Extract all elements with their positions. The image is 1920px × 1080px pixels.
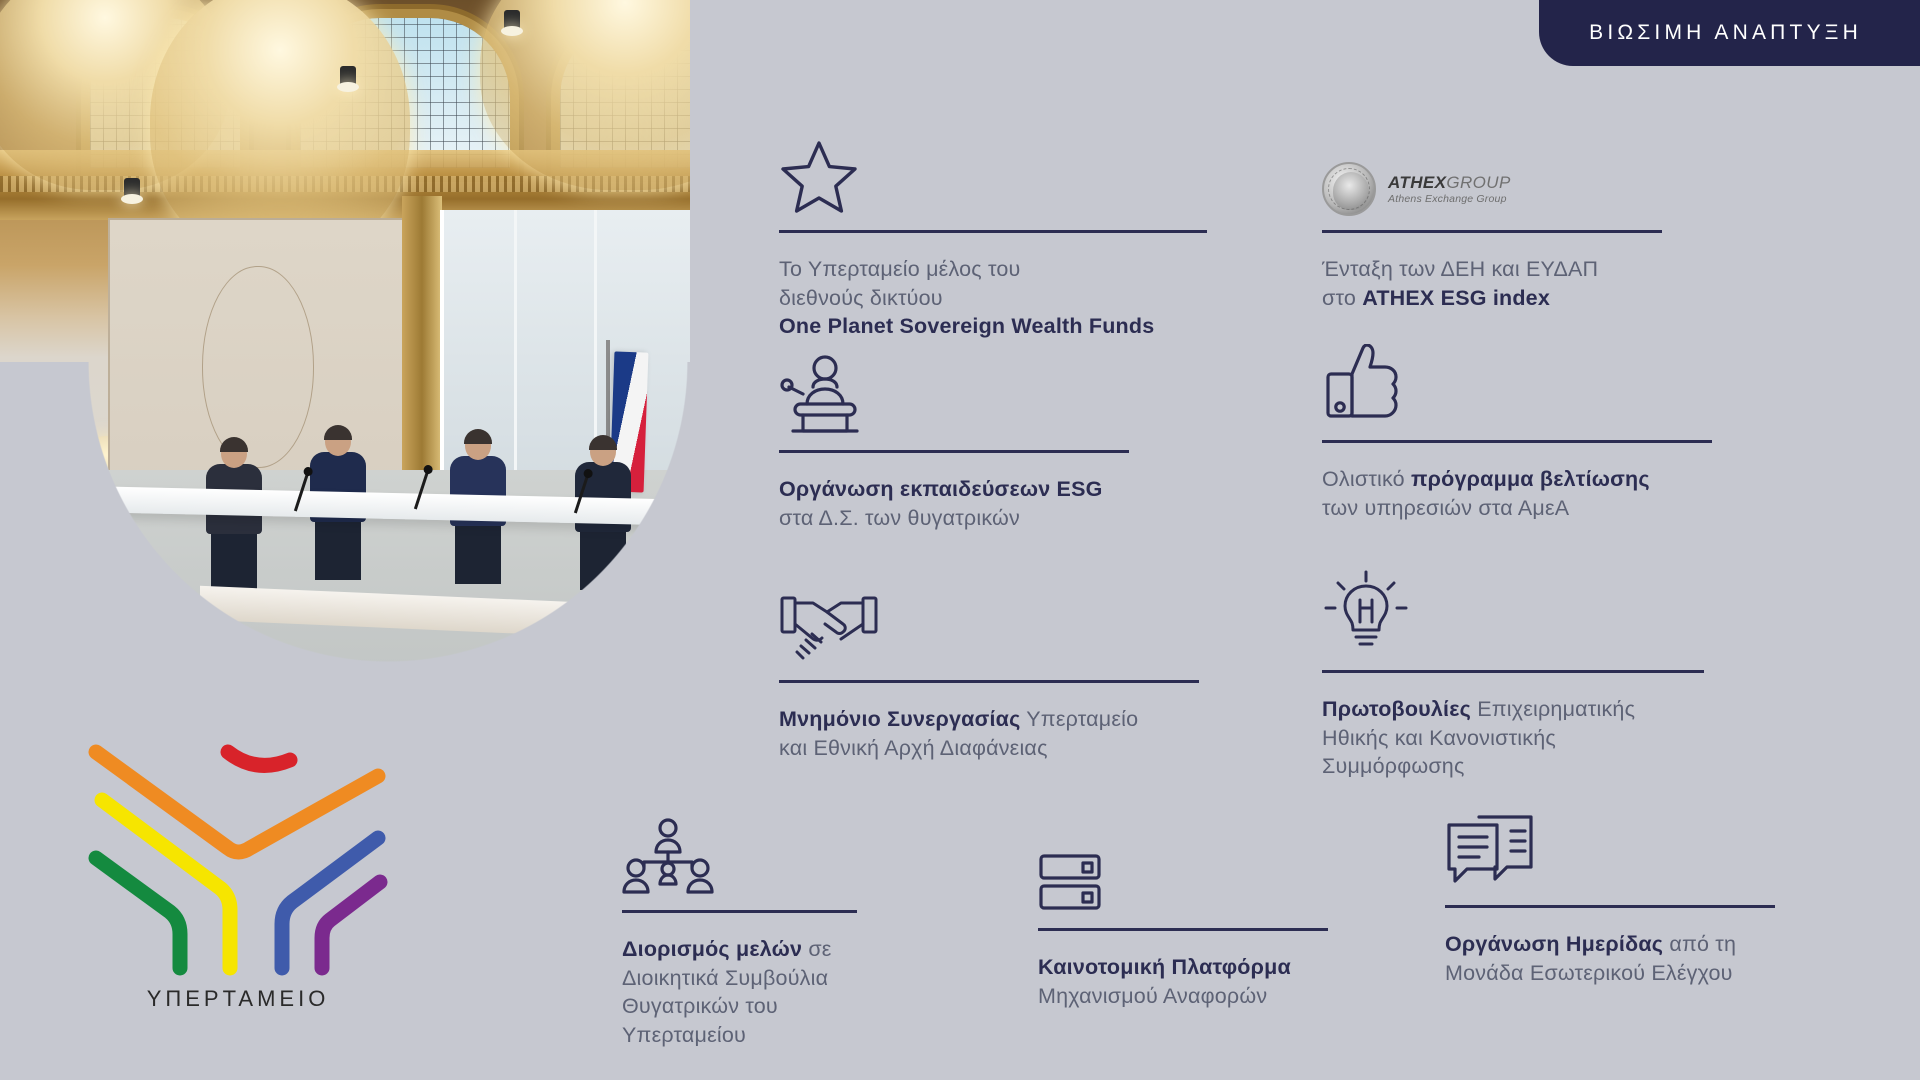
card-line-2: διεθνούς δικτύου	[779, 286, 943, 310]
card-line-1-post: από τη	[1663, 932, 1736, 956]
card-text: Καινοτομική Πλατφόρμα Μηχανισμού Αναφορώ…	[1038, 953, 1328, 1010]
card-line-1-pre: Ολιστικό	[1322, 467, 1411, 491]
athex-coin-icon	[1322, 162, 1376, 216]
card-esg-trainings: Οργάνωση εκπαιδεύσεων ESG στα Δ.Σ. των θ…	[779, 340, 1129, 532]
card-line-2-pre: στο	[1322, 286, 1362, 310]
speaker-podium-icon	[779, 340, 1129, 436]
handshake-icon	[779, 570, 1199, 666]
athex-brand-bold: ATHEX	[1388, 173, 1446, 192]
card-line-1-post: σε	[802, 937, 831, 961]
card-line-1-bold: Πρωτοβουλίες	[1322, 697, 1471, 721]
card-line-2: στα Δ.Σ. των θυγατρικών	[779, 506, 1020, 530]
card-text: Πρωτοβουλίες Επιχειρηματικής Ηθικής και …	[1322, 695, 1704, 781]
card-line-1-post: Υπερταμείο	[1020, 707, 1138, 731]
card-text: Ολιστικό πρόγραμμα βελτίωσης των υπηρεσι…	[1322, 465, 1712, 522]
card-line-1-bold: πρόγραμμα βελτίωσης	[1411, 467, 1650, 491]
card-line-2: των υπηρεσιών στα ΑμεΑ	[1322, 496, 1569, 520]
star-icon	[779, 120, 1207, 216]
card-line-1: Οργάνωση εκπαιδεύσεων ESG	[779, 477, 1103, 501]
card-athex-esg: ATHEXGROUP Athens Exchange Group Ένταξη …	[1322, 120, 1662, 312]
card-line-1-bold: Μνημόνιο Συνεργασίας	[779, 707, 1020, 731]
card-ethics-compliance: Πρωτοβουλίες Επιχειρηματικής Ηθικής και …	[1322, 560, 1704, 781]
card-line-2: και Εθνική Αρχή Διαφάνειας	[779, 736, 1048, 760]
card-line-1: Το Υπερταμείο μέλος του	[779, 257, 1021, 281]
card-rule	[779, 680, 1199, 683]
card-text: Οργάνωση εκπαιδεύσεων ESG στα Δ.Σ. των θ…	[779, 475, 1129, 532]
card-line-3: One Planet Sovereign Wealth Funds	[779, 314, 1154, 338]
card-rule	[1322, 670, 1704, 673]
athex-brand-light: GROUP	[1446, 173, 1510, 192]
card-line-3: Θυγατρικών του Υπερταμείου	[622, 994, 778, 1047]
card-rule	[1445, 905, 1775, 908]
card-line-2: Διοικητικά Συμβούλια	[622, 966, 828, 990]
brand-name: ΥΠΕΡΤΑΜΕΙΟ	[78, 986, 398, 1012]
brand-logo: ΥΠΕΡΤΑΜΕΙΟ	[78, 730, 398, 1012]
ypertameio-mark-icon	[78, 730, 398, 980]
card-amea-program: Ολιστικό πρόγραμμα βελτίωσης των υπηρεσι…	[1322, 330, 1712, 522]
card-line-1-post: Επιχειρηματικής	[1471, 697, 1635, 721]
card-reporting-platform: Καινοτομική Πλατφόρμα Μηχανισμού Αναφορώ…	[1038, 818, 1328, 1010]
card-rule	[622, 910, 857, 913]
card-text: Το Υπερταμείο μέλος του διεθνούς δικτύου…	[779, 255, 1207, 341]
card-line-2-bold: ATHEX ESG index	[1362, 286, 1550, 310]
card-line-1-bold: Καινοτομική Πλατφόρμα	[1038, 955, 1291, 979]
card-mou-transparency: Μνημόνιο Συνεργασίας Υπερταμείο και Εθνι…	[779, 570, 1199, 762]
chat-bubbles-icon	[1445, 795, 1775, 891]
card-line-2: Μονάδα Εσωτερικού Ελέγχου	[1445, 961, 1733, 985]
thumbs-up-icon	[1322, 330, 1712, 426]
card-text: Οργάνωση Ημερίδας από τη Μονάδα Εσωτερικ…	[1445, 930, 1775, 987]
card-rule	[779, 230, 1207, 233]
card-text: Διορισμός μελών σε Διοικητικά Συμβούλια …	[622, 935, 857, 1049]
card-line-2: Ηθικής και Κανονιστικής	[1322, 726, 1556, 750]
card-line-1: Ένταξη των ΔΕΗ και ΕΥΔΑΠ	[1322, 257, 1598, 281]
card-board-appointments: Διορισμός μελών σε Διοικητικά Συμβούλια …	[622, 800, 857, 1049]
card-rule	[1322, 230, 1662, 233]
server-rack-icon	[1038, 818, 1328, 914]
card-line-1-bold: Οργάνωση Ημερίδας	[1445, 932, 1663, 956]
athex-tagline: Athens Exchange Group	[1388, 194, 1511, 206]
card-one-planet: Το Υπερταμείο μέλος του διεθνούς δικτύου…	[779, 120, 1207, 341]
lightbulb-icon	[1322, 560, 1704, 656]
card-audit-event: Οργάνωση Ημερίδας από τη Μονάδα Εσωτερικ…	[1445, 795, 1775, 987]
card-text: Μνημόνιο Συνεργασίας Υπερταμείο και Εθνι…	[779, 705, 1199, 762]
card-rule	[779, 450, 1129, 453]
card-rule	[1038, 928, 1328, 931]
card-line-3: Συμμόρφωσης	[1322, 754, 1465, 778]
card-rule	[1322, 440, 1712, 443]
card-text: Ένταξη των ΔΕΗ και ΕΥΔΑΠ στο ATHEX ESG i…	[1322, 255, 1662, 312]
athex-group-logo: ATHEXGROUP Athens Exchange Group	[1322, 120, 1662, 216]
card-line-2: Μηχανισμού Αναφορών	[1038, 984, 1267, 1008]
people-org-icon	[622, 800, 857, 896]
card-line-1-bold: Διορισμός μελών	[622, 937, 802, 961]
